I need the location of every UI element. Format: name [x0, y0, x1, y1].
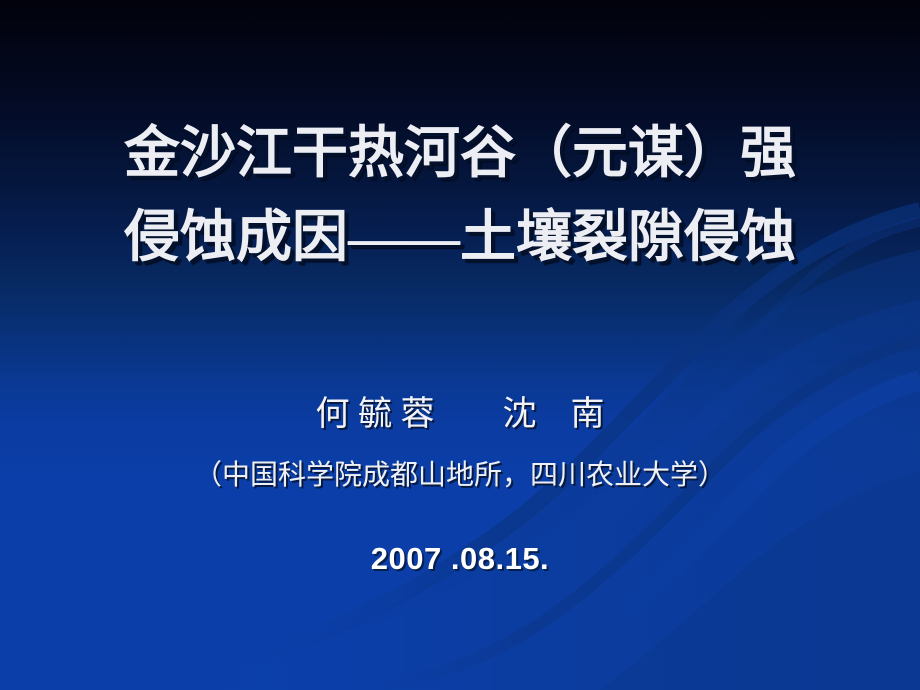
title-slide: 金沙江干热河谷（元谋）强 侵蚀成因——土壤裂隙侵蚀 何 毓 蓉 沈 南 （中国科… [0, 0, 920, 690]
affiliation-line: （中国科学院成都山地所，四川农业大学） [0, 457, 920, 495]
title-line-1: 金沙江干热河谷（元谋）强 [0, 112, 920, 196]
authors-line: 何 毓 蓉 沈 南 [0, 393, 920, 437]
slide-content: 金沙江干热河谷（元谋）强 侵蚀成因——土壤裂隙侵蚀 何 毓 蓉 沈 南 （中国科… [0, 0, 920, 690]
page-title: 金沙江干热河谷（元谋）强 侵蚀成因——土壤裂隙侵蚀 [0, 112, 920, 280]
date-line: 2007 .08.15. [0, 538, 920, 580]
title-line-2: 侵蚀成因——土壤裂隙侵蚀 [0, 196, 920, 280]
